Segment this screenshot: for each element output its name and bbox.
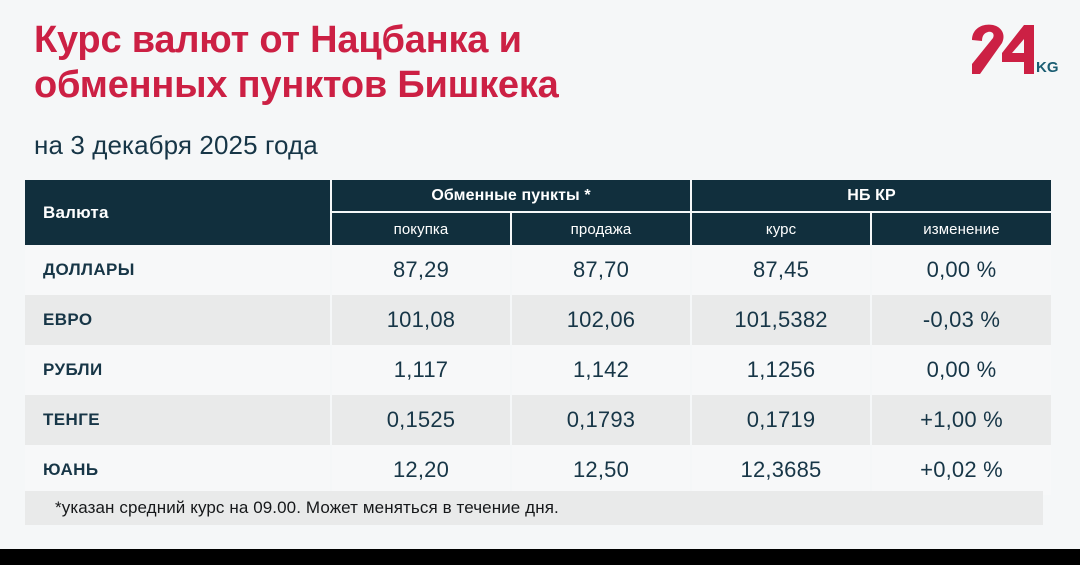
cell-change: 0,00 % (871, 345, 1051, 395)
cell-rate: 12,3685 (691, 445, 871, 495)
cell-buy: 12,20 (331, 445, 511, 495)
currency-rates-table: Валюта Обменные пункты * НБ КР покупка п… (25, 180, 1051, 495)
cell-currency: ДОЛЛАРЫ (25, 245, 331, 295)
column-header-rate: курс (691, 212, 871, 245)
footnote: *указан средний курс на 09.00. Может мен… (25, 491, 1043, 525)
cell-buy: 1,117 (331, 345, 511, 395)
cell-currency: РУБЛИ (25, 345, 331, 395)
column-header-change: изменение (871, 212, 1051, 245)
cell-rate: 101,5382 (691, 295, 871, 345)
cell-change: 0,00 % (871, 245, 1051, 295)
rates-table-container: Валюта Обменные пункты * НБ КР покупка п… (25, 180, 1051, 495)
table-row: ДОЛЛАРЫ 87,29 87,70 87,45 0,00 % (25, 245, 1051, 295)
infographic-page: Курс валют от Нацбанка и обменных пункто… (0, 0, 1080, 565)
cell-sell: 87,70 (511, 245, 691, 295)
column-group-national-bank: НБ КР (691, 180, 1051, 212)
page-title: Курс валют от Нацбанка и обменных пункто… (34, 18, 734, 108)
header: Курс валют от Нацбанка и обменных пункто… (34, 18, 1080, 161)
bottom-bar (0, 549, 1080, 565)
table-row: ЮАНЬ 12,20 12,50 12,3685 +0,02 % (25, 445, 1051, 495)
cell-buy: 101,08 (331, 295, 511, 345)
table-body: ДОЛЛАРЫ 87,29 87,70 87,45 0,00 % ЕВРО 10… (25, 245, 1051, 495)
table-row: ЕВРО 101,08 102,06 101,5382 -0,03 % (25, 295, 1051, 345)
cell-rate: 1,1256 (691, 345, 871, 395)
cell-sell: 0,1793 (511, 395, 691, 445)
cell-currency: ЕВРО (25, 295, 331, 345)
cell-change: +1,00 % (871, 395, 1051, 445)
cell-currency: ТЕНГЕ (25, 395, 331, 445)
cell-rate: 87,45 (691, 245, 871, 295)
cell-buy: 87,29 (331, 245, 511, 295)
column-header-sell: продажа (511, 212, 691, 245)
cell-sell: 12,50 (511, 445, 691, 495)
table-header-group-row: Валюта Обменные пункты * НБ КР (25, 180, 1051, 212)
cell-change: +0,02 % (871, 445, 1051, 495)
cell-sell: 102,06 (511, 295, 691, 345)
page-subtitle: на 3 декабря 2025 года (34, 130, 1080, 161)
table-head: Валюта Обменные пункты * НБ КР покупка п… (25, 180, 1051, 245)
table-row: РУБЛИ 1,117 1,142 1,1256 0,00 % (25, 345, 1051, 395)
cell-change: -0,03 % (871, 295, 1051, 345)
svg-text:KG: KG (1036, 59, 1058, 76)
brand-logo-24kg[interactable]: KG (966, 22, 1058, 86)
cell-currency: ЮАНЬ (25, 445, 331, 495)
table-row: ТЕНГЕ 0,1525 0,1793 0,1719 +1,00 % (25, 395, 1051, 445)
cell-buy: 0,1525 (331, 395, 511, 445)
column-header-currency: Валюта (25, 180, 331, 245)
footnote-text: *указан средний курс на 09.00. Может мен… (55, 498, 559, 518)
logo-24kg-icon: KG (966, 22, 1058, 86)
column-group-exchange-offices: Обменные пункты * (331, 180, 691, 212)
cell-rate: 0,1719 (691, 395, 871, 445)
column-header-buy: покупка (331, 212, 511, 245)
cell-sell: 1,142 (511, 345, 691, 395)
